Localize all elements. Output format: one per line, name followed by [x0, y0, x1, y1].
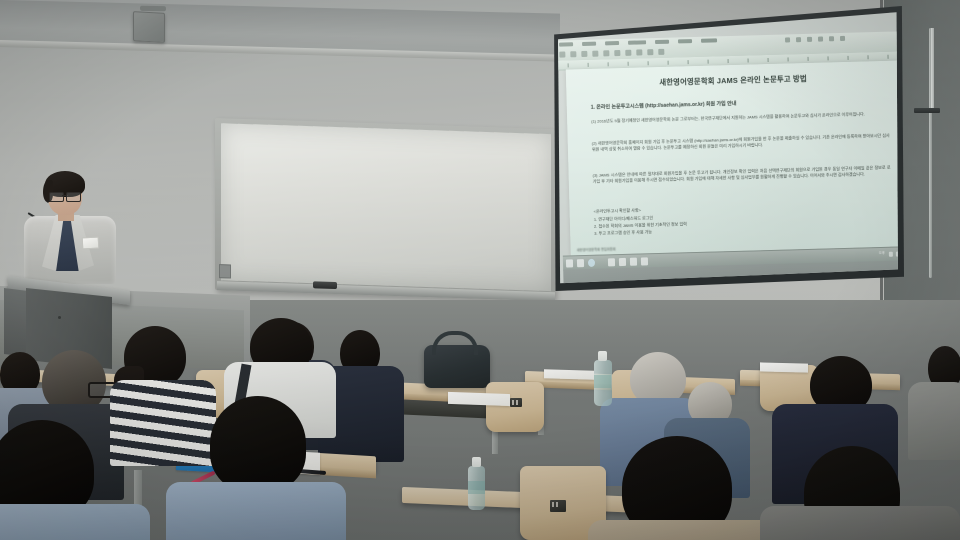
- wall-rod-bracket: [914, 108, 940, 113]
- lecture-hall-photo: 새한영어영문학회 JAMS 온라인 논문투고 방법 1. 온라인 논문투고시스템…: [0, 0, 960, 540]
- attendee-body: [0, 504, 150, 540]
- paper-sheet: [448, 392, 510, 406]
- folder-icon[interactable]: [577, 259, 584, 267]
- slide-heading: 1. 온라인 논문투고시스템 (http://saehan.jams.or.kr…: [591, 96, 887, 111]
- slide-paragraph-2: (2) 새한영어영문학회 홈페이지 회원 가입 후 논문투고 시스템 (http…: [592, 133, 890, 153]
- whiteboard-surface: [221, 123, 551, 291]
- paper-sheet: [544, 369, 594, 379]
- water-bottle-icon[interactable]: [468, 466, 485, 510]
- slide-paragraph-1: (1) 2016년도 5월 정기예정인 새한영어영문학회 논문 그로부터는, 한…: [591, 111, 889, 125]
- document-page: 새한영어영문학회 JAMS 온라인 논문투고 방법 1. 온라인 논문투고시스템…: [566, 60, 900, 255]
- handbag-icon: [424, 345, 490, 388]
- wall-speaker-icon: [133, 11, 165, 43]
- app-icon-4[interactable]: [641, 257, 648, 265]
- browser-icon[interactable]: [588, 259, 595, 267]
- slide-paragraph-3: (3) JAMS 시스템은 안내에 따른 절차대로 회원가입을 후 논문 투고가…: [593, 165, 891, 185]
- taskbar-icons[interactable]: [566, 257, 648, 267]
- presenter: [22, 171, 118, 286]
- document-toolbar[interactable]: [559, 49, 664, 59]
- speaker-bracket: [140, 6, 166, 11]
- projection-screen: 새한영어영문학회 JAMS 온라인 논문투고 방법 1. 온라인 논문투고시스템…: [552, 6, 904, 291]
- document-menubar[interactable]: [559, 38, 717, 49]
- document-toolbar-right[interactable]: [785, 36, 845, 45]
- podium-side: [4, 288, 28, 357]
- screen-surface: 새한영어영문학회 JAMS 온라인 논문투고 방법 1. 온라인 논문투고시스템…: [556, 10, 900, 286]
- water-bottle-icon[interactable]: [594, 360, 612, 406]
- app-icon-2[interactable]: [619, 258, 626, 266]
- app-icon-3[interactable]: [630, 258, 637, 266]
- attendee-body-striped: [110, 380, 216, 466]
- paper-sheet: [760, 362, 808, 372]
- attendee-body: [166, 482, 346, 540]
- slide-title: 새한영어영문학회 JAMS 온라인 논문투고 방법: [566, 71, 900, 90]
- chair-logo-icon: [550, 500, 566, 512]
- wall-rod-upper: [931, 28, 934, 113]
- start-icon[interactable]: [566, 259, 573, 267]
- tray-icon-1[interactable]: [889, 252, 893, 257]
- whiteboard-hinge: [219, 264, 231, 278]
- attendee-body: [588, 520, 778, 540]
- podium-knob-icon: [58, 316, 61, 319]
- attendee-body: [760, 506, 960, 540]
- attendee-head: [210, 396, 306, 492]
- whiteboard: [215, 118, 555, 301]
- chair[interactable]: [486, 382, 544, 432]
- slide-footer: 새한영어영문학회 편집위원회: [577, 246, 616, 252]
- eraser-icon[interactable]: [313, 281, 337, 289]
- chair-logo-icon: [510, 398, 522, 407]
- glasses-icon: [49, 192, 81, 200]
- app-icon-1[interactable]: [608, 258, 615, 266]
- attendee-body: [908, 382, 960, 460]
- presenter-name-badge: [82, 237, 100, 250]
- taskbar-clock[interactable]: 오후: [879, 251, 885, 255]
